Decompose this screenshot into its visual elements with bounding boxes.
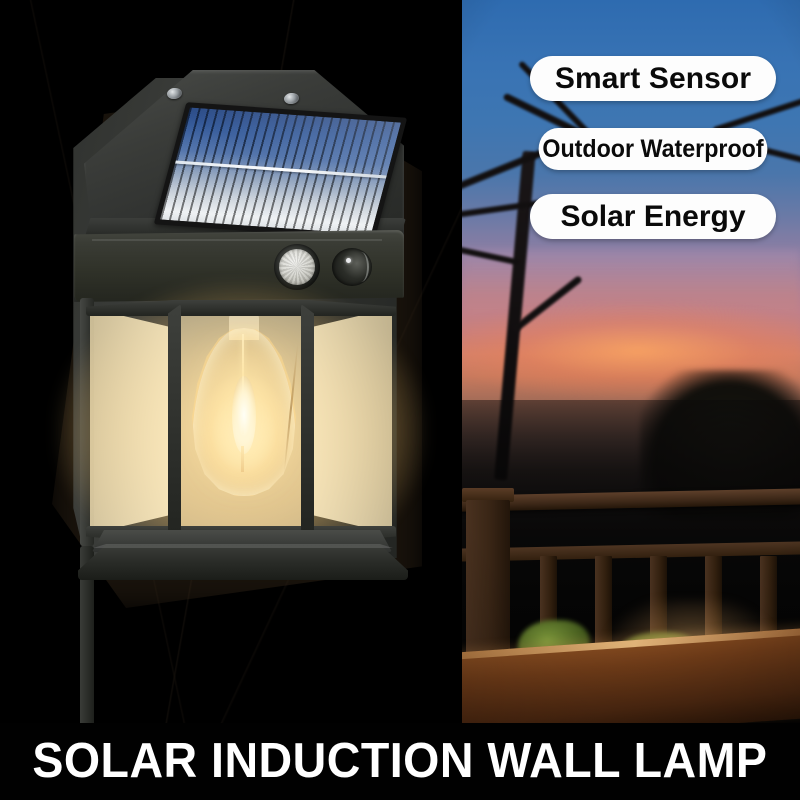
solar-panel: [154, 102, 407, 240]
feature-badge-solar-energy[interactable]: Solar Energy: [530, 194, 776, 239]
housing-ridge-line: [92, 239, 382, 241]
feature-badge-outdoor-waterproof[interactable]: Outdoor Waterproof: [539, 128, 768, 170]
lamp-photo-panel: [0, 0, 462, 723]
product-title: SOLAR INDUCTION WALL LAMP: [32, 737, 767, 786]
photocell-highlight: [346, 258, 351, 263]
solar-panel-glare: [160, 107, 401, 234]
base-front-face: [78, 546, 408, 580]
feature-badge-label: Solar Energy: [560, 200, 745, 234]
base-edge-highlight: [80, 544, 406, 548]
feature-badge-list: Smart Sensor Outdoor Waterproof Solar En…: [462, 0, 800, 300]
railing-corner-post: [466, 500, 510, 670]
lantern-mullion-left: [168, 304, 181, 540]
edison-bulb: [192, 328, 296, 496]
feature-badge-label: Smart Sensor: [555, 62, 751, 96]
photocell-arc: [353, 252, 369, 282]
lantern-mullion-right: [301, 304, 314, 540]
product-marketing-image: Smart Sensor Outdoor Waterproof Solar En…: [0, 0, 800, 800]
lamp-base-shelf: [66, 530, 418, 602]
product-title-banner: SOLAR INDUCTION WALL LAMP: [0, 723, 800, 800]
glass-pane-right: [306, 308, 392, 534]
glass-pane-left: [90, 308, 176, 534]
solar-panel-cells: [160, 107, 401, 234]
feature-badge-smart-sensor[interactable]: Smart Sensor: [530, 56, 776, 101]
solar-wall-lamp: [62, 70, 422, 600]
lantern-glass-box: [80, 298, 402, 546]
bulb-filament-glow: [232, 376, 256, 454]
feature-badge-label: Outdoor Waterproof: [542, 135, 763, 164]
bulb-filament-tail: [241, 446, 244, 472]
outdoor-scene-panel: Smart Sensor Outdoor Waterproof Solar En…: [462, 0, 800, 723]
railing-middle-rail: [462, 541, 800, 561]
